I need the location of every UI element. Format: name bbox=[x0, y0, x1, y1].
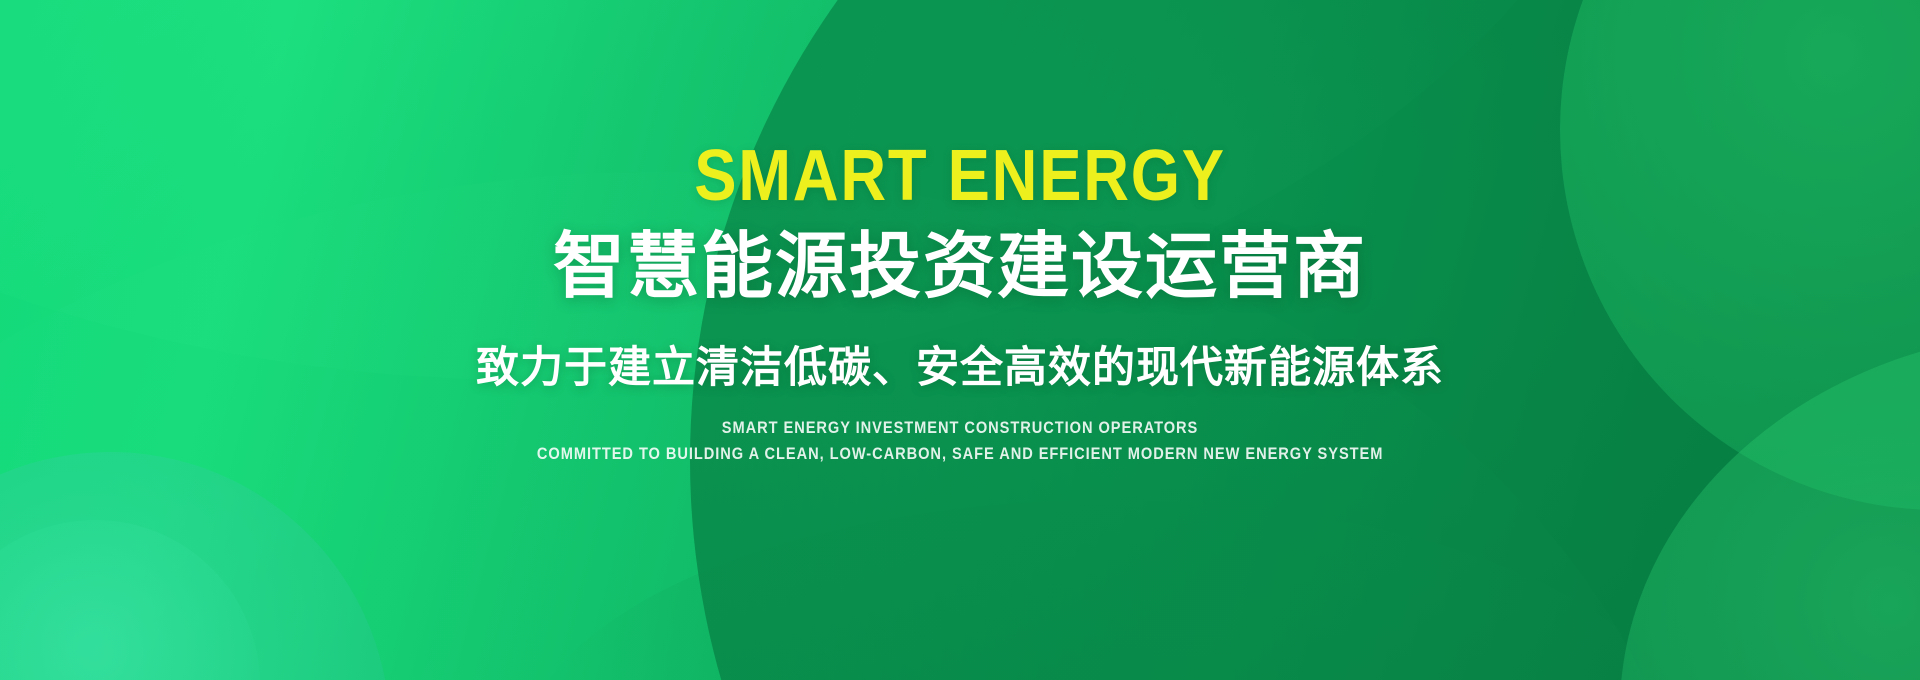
banner-subtitle-english-group: SMART ENERGY INVESTMENT CONSTRUCTION OPE… bbox=[468, 417, 1452, 465]
banner-title-chinese: 智慧能源投资建设运营商 bbox=[553, 228, 1367, 307]
banner-subtitle-english-line-1: SMART ENERGY INVESTMENT CONSTRUCTION OPE… bbox=[722, 417, 1198, 438]
banner-subtitle-chinese: 致力于建立清洁低碳、安全高效的现代新能源体系 bbox=[476, 343, 1444, 395]
banner-content: SMART ENERGY 智慧能源投资建设运营商 致力于建立清洁低碳、安全高效的… bbox=[0, 0, 1920, 680]
banner-subtitle-english-line-2: COMMITTED TO BUILDING A CLEAN, LOW-CARBO… bbox=[537, 443, 1383, 464]
banner-title-english: SMART ENERGY bbox=[694, 140, 1226, 212]
hero-banner: SMART ENERGY 智慧能源投资建设运营商 致力于建立清洁低碳、安全高效的… bbox=[0, 0, 1920, 680]
